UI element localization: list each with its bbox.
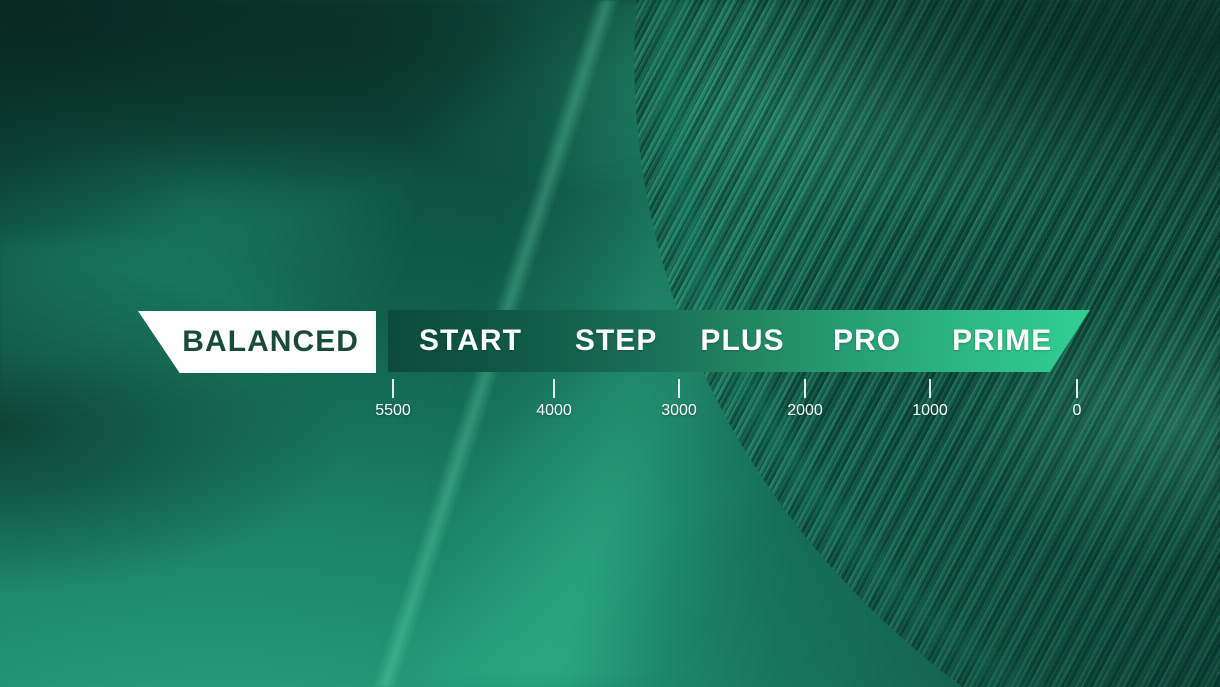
axis-tick-1000 — [929, 379, 931, 398]
axis-tick-4000 — [553, 379, 555, 398]
tier-start[interactable]: START — [388, 310, 553, 372]
tier-prime[interactable]: PRIME — [929, 310, 1076, 372]
axis-tick-label-3000: 3000 — [661, 403, 697, 419]
axis-tick-label-2000: 2000 — [787, 403, 823, 419]
tier-list: STARTSTEPPLUSPROPRIME — [388, 310, 1090, 372]
tier-pro[interactable]: PRO — [806, 310, 929, 372]
axis-tick-label-5500: 5500 — [375, 403, 411, 419]
axis-tick-label-4000: 4000 — [536, 403, 572, 419]
balanced-badge: BALANCED — [138, 311, 376, 373]
axis-tick-2000 — [804, 379, 806, 398]
axis-tick-0 — [1076, 379, 1078, 398]
axis-tick-label-0: 0 — [1073, 403, 1082, 419]
tier-plus[interactable]: PLUS — [679, 310, 805, 372]
axis-tick-label-1000: 1000 — [912, 403, 948, 419]
tier-step[interactable]: STEP — [553, 310, 679, 372]
axis-tick-5500 — [392, 379, 394, 398]
balanced-badge-label: BALANCED — [182, 327, 359, 357]
tier-bar: STARTSTEPPLUSPROPRIME — [388, 310, 1090, 372]
axis-tick-3000 — [678, 379, 680, 398]
graphic-canvas: BALANCED STARTSTEPPLUSPROPRIME 550040003… — [0, 0, 1220, 687]
